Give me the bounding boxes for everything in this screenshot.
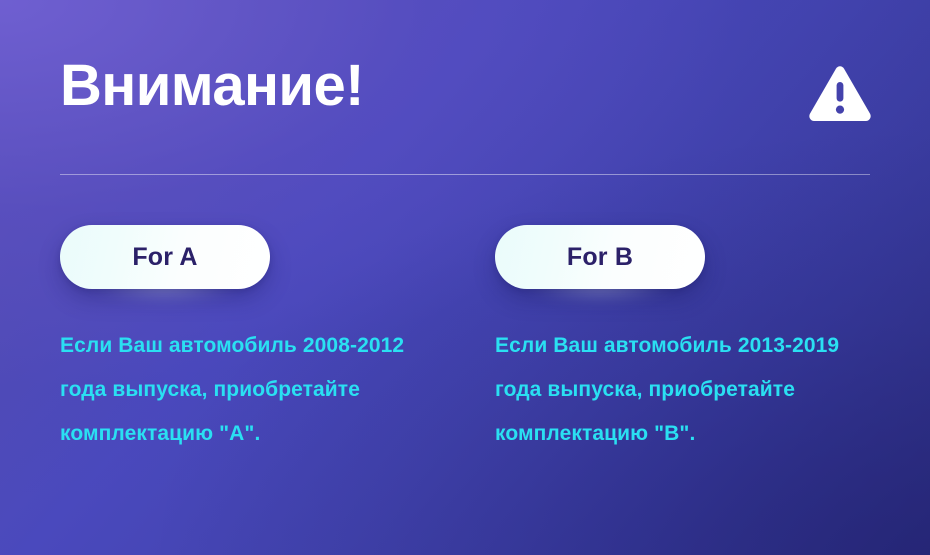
page-title: Внимание! [60, 57, 364, 115]
description-line: Если Ваш автомобиль 2013-2019 [495, 324, 895, 368]
divider [60, 174, 870, 175]
option-b-description: Если Ваш автомобиль 2013-2019 года выпус… [495, 324, 895, 456]
description-line: года выпуска, приобретайте [495, 368, 895, 412]
pill-wrap-b: For B [495, 225, 705, 289]
option-column-b: For B Если Ваш автомобиль 2013-2019 года… [495, 225, 895, 456]
description-line: года выпуска, приобретайте [60, 368, 460, 412]
for-a-button[interactable]: For A [60, 225, 270, 289]
description-line: комплектацию "В". [495, 412, 895, 456]
option-a-description: Если Ваш автомобиль 2008-2012 года выпус… [60, 324, 460, 456]
for-b-button[interactable]: For B [495, 225, 705, 289]
warning-banner: Внимание! For A Если Ваш автомобиль 2008… [0, 0, 930, 555]
description-line: комплектацию "А". [60, 412, 460, 456]
warning-triangle-icon [806, 62, 874, 130]
pill-wrap-a: For A [60, 225, 270, 289]
description-line: Если Ваш автомобиль 2008-2012 [60, 324, 460, 368]
option-column-a: For A Если Ваш автомобиль 2008-2012 года… [60, 225, 460, 456]
